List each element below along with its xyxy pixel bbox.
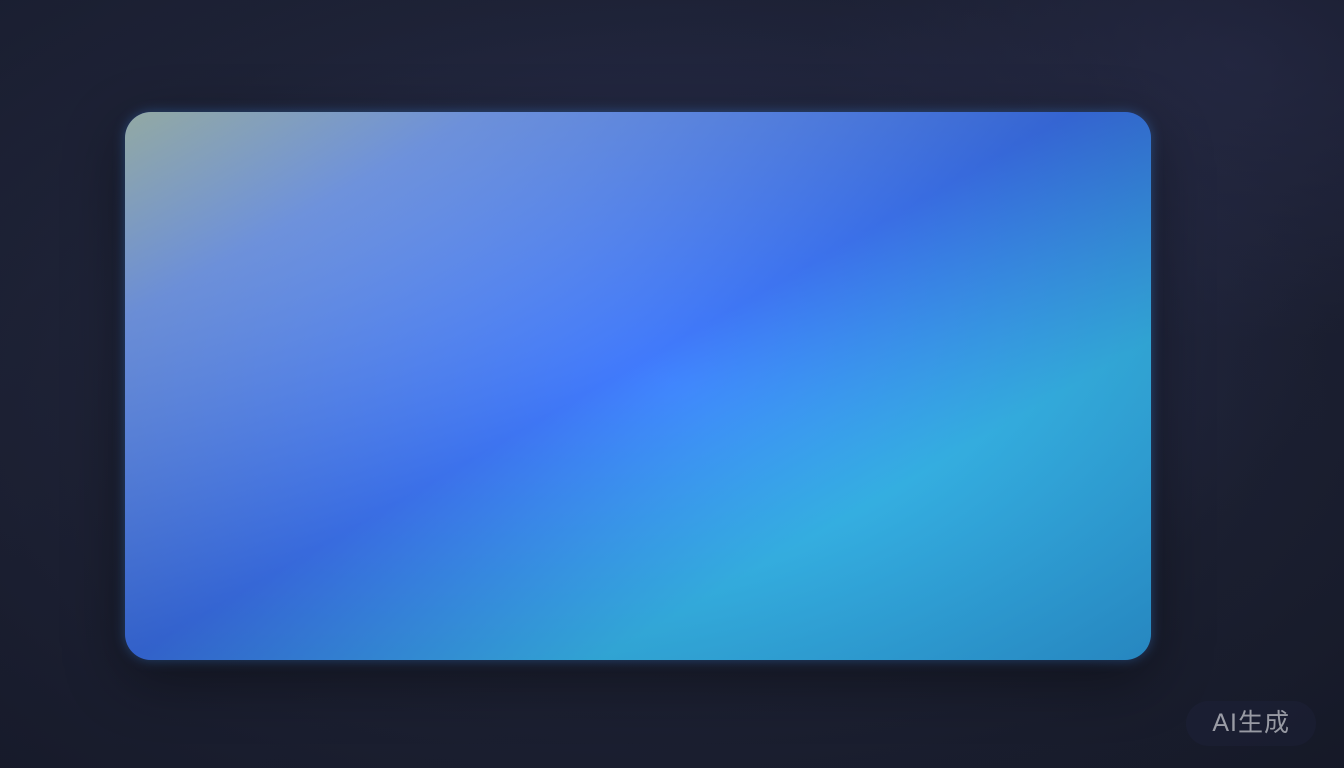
ai-generated-watermark: AI生成: [1186, 701, 1316, 746]
badge-bottom-right[interactable]: ocuIe ONEIB 0/8O: [847, 468, 1027, 588]
feature-card: ASSI00 J8 1 JBE00 PrOIeNO: [125, 112, 1151, 660]
bg-texture-rect: [320, 152, 455, 247]
badge-line-2: ONEIB 0/8O: [847, 520, 1027, 535]
app-canvas: ASSI00 J8 1 JBE00 PrOIeNO: [0, 0, 1344, 768]
badge-line-1: ocuIe: [847, 502, 1027, 516]
card-caption: Basiic Functiions Uneilocked: [125, 594, 1151, 625]
donut-center-label: ASSI00 J8 1: [125, 358, 1151, 381]
